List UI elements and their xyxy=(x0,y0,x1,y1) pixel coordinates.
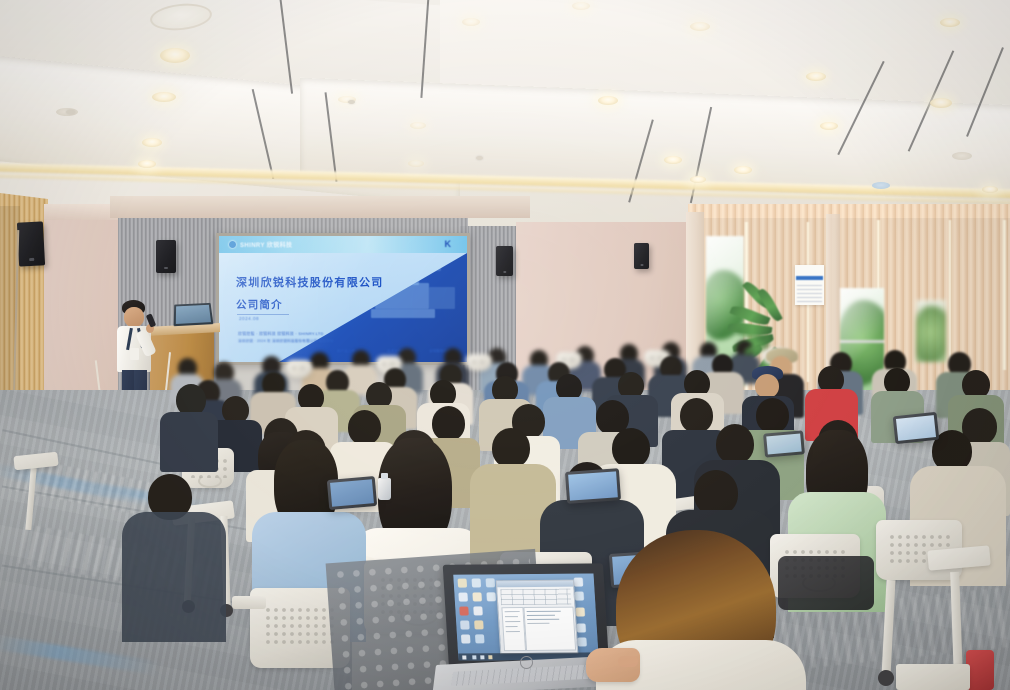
wall-speaker-left-front xyxy=(156,240,176,273)
bottle-cap xyxy=(381,473,388,479)
data-grid-header[interactable] xyxy=(500,589,571,606)
wall-speaker-left-rear xyxy=(17,221,45,266)
laptop-lid xyxy=(763,430,805,457)
downlight xyxy=(820,122,838,130)
downlight xyxy=(598,96,618,105)
presenter-badge xyxy=(130,348,139,360)
wall-notice-board xyxy=(795,265,824,305)
downlight xyxy=(806,72,826,81)
taskbar-item[interactable] xyxy=(488,655,492,659)
start-button[interactable] xyxy=(462,655,466,659)
downlight xyxy=(690,22,710,31)
desktop-icon[interactable] xyxy=(458,593,468,602)
downlight xyxy=(152,92,176,102)
downlight xyxy=(408,160,424,167)
desktop-icon[interactable] xyxy=(577,637,587,646)
laptop-lid xyxy=(327,476,377,510)
desktop-icon[interactable] xyxy=(473,606,483,615)
desktop-icon[interactable] xyxy=(574,578,584,587)
attendee-head xyxy=(348,410,381,445)
application-window[interactable] xyxy=(496,580,579,655)
wall-led-strip xyxy=(948,220,952,370)
downlight xyxy=(410,122,426,129)
downlight xyxy=(462,18,480,26)
desktop-icon[interactable] xyxy=(474,620,484,629)
desktop-icon[interactable] xyxy=(475,634,485,643)
water-bottle xyxy=(378,478,391,500)
attendee-body xyxy=(122,512,226,642)
sprinkler-head xyxy=(348,100,355,104)
wall-led-strip xyxy=(1002,220,1007,370)
attendee-head xyxy=(680,398,713,433)
downlight xyxy=(664,156,682,164)
attendee-head xyxy=(492,428,530,468)
chair-caster xyxy=(878,670,894,686)
presenter-head xyxy=(124,307,144,327)
desktop-icon[interactable] xyxy=(472,592,482,601)
notice-accent-band xyxy=(796,276,823,280)
detail-panel[interactable] xyxy=(523,607,576,651)
downlight xyxy=(160,48,190,63)
sprinkler-head xyxy=(66,110,75,114)
desktop-icon[interactable] xyxy=(486,592,496,601)
attendee-head xyxy=(756,398,789,433)
chair-back xyxy=(286,360,312,378)
window-right-c xyxy=(916,300,946,362)
laptop-lid xyxy=(893,412,940,444)
attendee-head xyxy=(432,406,465,441)
wood-wall-right-top xyxy=(688,204,1010,218)
desktop-icon[interactable] xyxy=(472,578,482,587)
laptop-screen[interactable] xyxy=(453,573,598,660)
photo-scene: SHINRY 欣锐科技 K 深圳欣锐科技股份有限公司 公司简介 2024.08 … xyxy=(0,0,1010,690)
red-object xyxy=(966,650,994,690)
desktop-icon[interactable] xyxy=(461,634,471,643)
attendee-head xyxy=(755,374,779,398)
desktop-icon[interactable] xyxy=(575,592,585,601)
attendee-body xyxy=(160,412,218,472)
desktop-icon[interactable] xyxy=(576,608,586,617)
sprinkler-head xyxy=(476,156,483,160)
tree-panel[interactable] xyxy=(501,607,526,651)
downlight-off xyxy=(952,152,972,160)
downlight xyxy=(982,186,998,193)
window-titlebar[interactable] xyxy=(497,581,573,588)
screen-soffit xyxy=(110,196,530,218)
desktop-icon[interactable] xyxy=(459,607,469,616)
desktop-icon[interactable] xyxy=(458,579,468,588)
hp-logo-icon xyxy=(520,656,533,669)
ceiling-sensor xyxy=(872,182,890,189)
downlight xyxy=(138,160,156,168)
attendee-head xyxy=(612,428,650,468)
downlight xyxy=(690,176,706,183)
downlight xyxy=(734,166,752,174)
dark-bag xyxy=(778,556,874,610)
attendee-head xyxy=(716,424,754,464)
desktop-icon[interactable] xyxy=(460,620,470,629)
podium-laptop xyxy=(174,303,214,326)
notice-text-lines xyxy=(797,284,822,302)
chair-back xyxy=(466,354,492,371)
attendee-finger xyxy=(618,656,638,667)
desktop-icon[interactable] xyxy=(486,578,496,587)
taskbar-item[interactable] xyxy=(472,655,476,659)
wall-speaker-right xyxy=(634,243,649,269)
downlight xyxy=(940,18,960,27)
projection-screen[interactable]: SHINRY 欣锐科技 K 深圳欣锐科技股份有限公司 公司简介 2024.08 … xyxy=(219,236,467,362)
desktop-icon[interactable] xyxy=(576,623,586,632)
downlight xyxy=(572,2,590,10)
taskbar-item[interactable] xyxy=(480,655,484,659)
chair-arm xyxy=(232,596,266,609)
paper-notebook xyxy=(896,664,970,690)
laptop-lid xyxy=(565,468,621,504)
downlight xyxy=(930,98,952,108)
wall-speaker-center-right xyxy=(496,246,513,276)
downlight xyxy=(142,138,162,147)
